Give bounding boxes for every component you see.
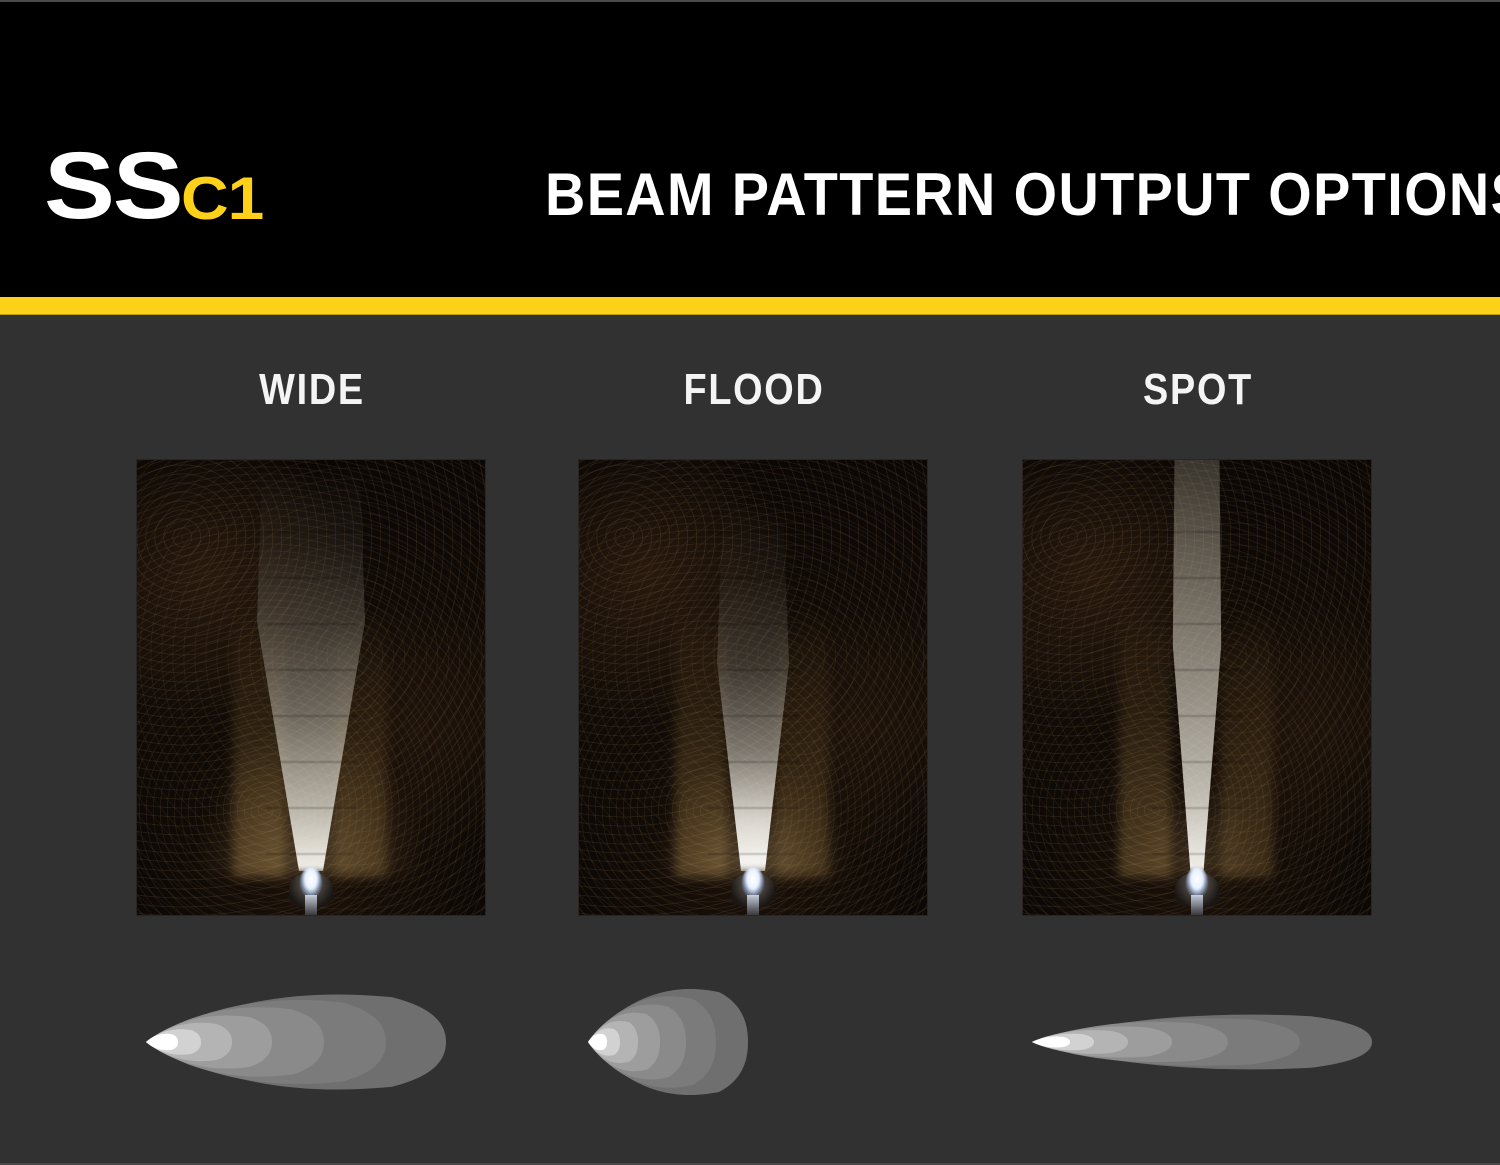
light-source-glow bbox=[1186, 867, 1208, 897]
light-source-glow bbox=[742, 867, 764, 897]
beam-lobe-6 bbox=[1032, 1037, 1070, 1048]
column-label-spot: SPOT bbox=[1047, 365, 1350, 415]
header-bar: SS C1 BEAM PATTERN OUTPUT OPTIONS bbox=[0, 2, 1500, 297]
spot-beam-lobes bbox=[1032, 1015, 1372, 1070]
road-joints bbox=[266, 525, 356, 855]
beam-pattern-infographic: SS C1 BEAM PATTERN OUTPUT OPTIONS WIDE bbox=[0, 0, 1500, 1165]
light-mount-stem bbox=[747, 895, 759, 915]
column-label-flood: FLOOD bbox=[603, 365, 906, 415]
flood-beam-svg bbox=[578, 970, 930, 1115]
beam-lobe-6 bbox=[146, 1034, 178, 1050]
spot-beam-svg bbox=[1022, 970, 1374, 1115]
logo-primary-text: SS bbox=[44, 143, 181, 230]
beam-lobe-6 bbox=[588, 1034, 607, 1050]
wide-beam-lobes bbox=[146, 994, 446, 1089]
accent-divider bbox=[0, 297, 1500, 315]
page-title: BEAM PATTERN OUTPUT OPTIONS bbox=[545, 157, 1401, 237]
content-area: WIDE bbox=[0, 315, 1500, 1165]
beam-diagram-spot bbox=[1022, 970, 1374, 1115]
photo-spot bbox=[1022, 459, 1372, 916]
light-mount-stem bbox=[305, 895, 317, 915]
light-mount-stem bbox=[1191, 895, 1203, 915]
road-joints bbox=[1152, 525, 1242, 855]
beam-diagram-wide bbox=[136, 970, 488, 1115]
wide-beam-svg bbox=[136, 970, 488, 1115]
flood-beam-lobes bbox=[588, 989, 748, 1095]
photo-flood bbox=[578, 459, 928, 916]
photo-wide bbox=[136, 459, 486, 916]
logo-secondary-text: C1 bbox=[181, 170, 263, 227]
brand-logo: SS C1 bbox=[44, 130, 255, 230]
beam-diagram-flood bbox=[578, 970, 930, 1115]
column-label-wide: WIDE bbox=[161, 365, 464, 415]
light-source-glow bbox=[300, 867, 322, 897]
road-joints bbox=[708, 525, 798, 855]
